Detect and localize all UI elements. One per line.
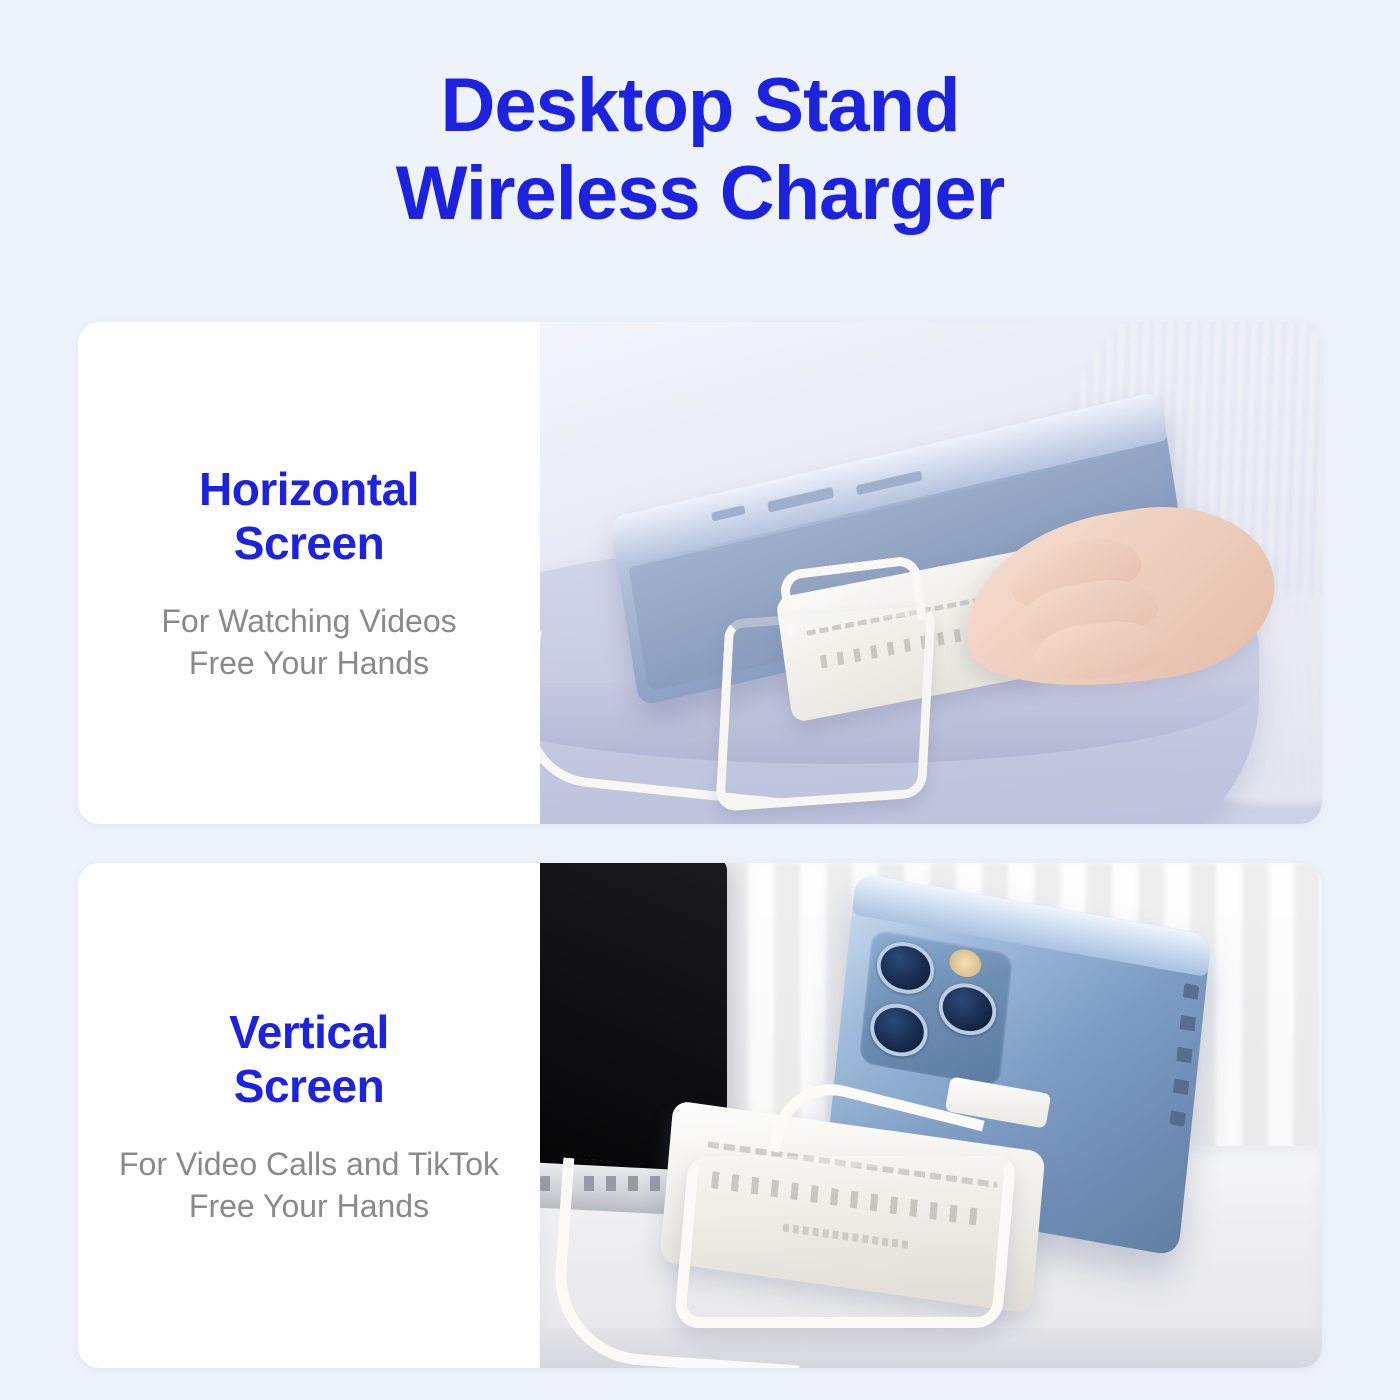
product-photo-vertical — [540, 863, 1322, 1368]
feature-heading-horizontal: Horizontal Screen — [199, 462, 419, 570]
feature-heading-line-2: Screen — [234, 1060, 384, 1112]
camera-lens — [937, 979, 999, 1040]
feature-sub-line-1: For Video Calls and TikTok — [119, 1146, 499, 1182]
feature-sub-line-2: Free Your Hands — [189, 1188, 429, 1224]
title-line-1: Desktop Stand — [0, 62, 1400, 150]
camera-lens — [875, 938, 937, 999]
feature-card-horizontal[interactable]: Horizontal Screen For Watching Videos Fr… — [78, 322, 1322, 824]
feature-heading-line-2: Screen — [234, 517, 384, 569]
title-line-2: Wireless Charger — [0, 150, 1400, 238]
feature-heading-line-1: Horizontal — [199, 463, 419, 515]
product-feature-page: Desktop Stand Wireless Charger Horizonta… — [0, 0, 1400, 1400]
page-title: Desktop Stand Wireless Charger — [0, 62, 1400, 238]
feature-sub-line-1: For Watching Videos — [161, 603, 456, 639]
feature-heading-line-1: Vertical — [229, 1006, 389, 1058]
charging-cable — [549, 1158, 813, 1368]
wire-kickstand — [715, 605, 936, 812]
phone-camera-module — [858, 928, 1014, 1088]
feature-sub-line-2: Free Your Hands — [189, 645, 429, 681]
feature-subtext-vertical: For Video Calls and TikTok Free Your Han… — [119, 1143, 499, 1227]
feature-heading-vertical: Vertical Screen — [229, 1005, 389, 1113]
camera-lens — [868, 1000, 930, 1061]
feature-text-horizontal: Horizontal Screen For Watching Videos Fr… — [78, 322, 540, 824]
feature-subtext-horizontal: For Watching Videos Free Your Hands — [161, 600, 456, 684]
feature-text-vertical: Vertical Screen For Video Calls and TikT… — [78, 863, 540, 1368]
feature-card-vertical[interactable]: Vertical Screen For Video Calls and TikT… — [78, 863, 1322, 1368]
product-photo-horizontal — [540, 322, 1322, 824]
camera-flash — [948, 948, 982, 980]
